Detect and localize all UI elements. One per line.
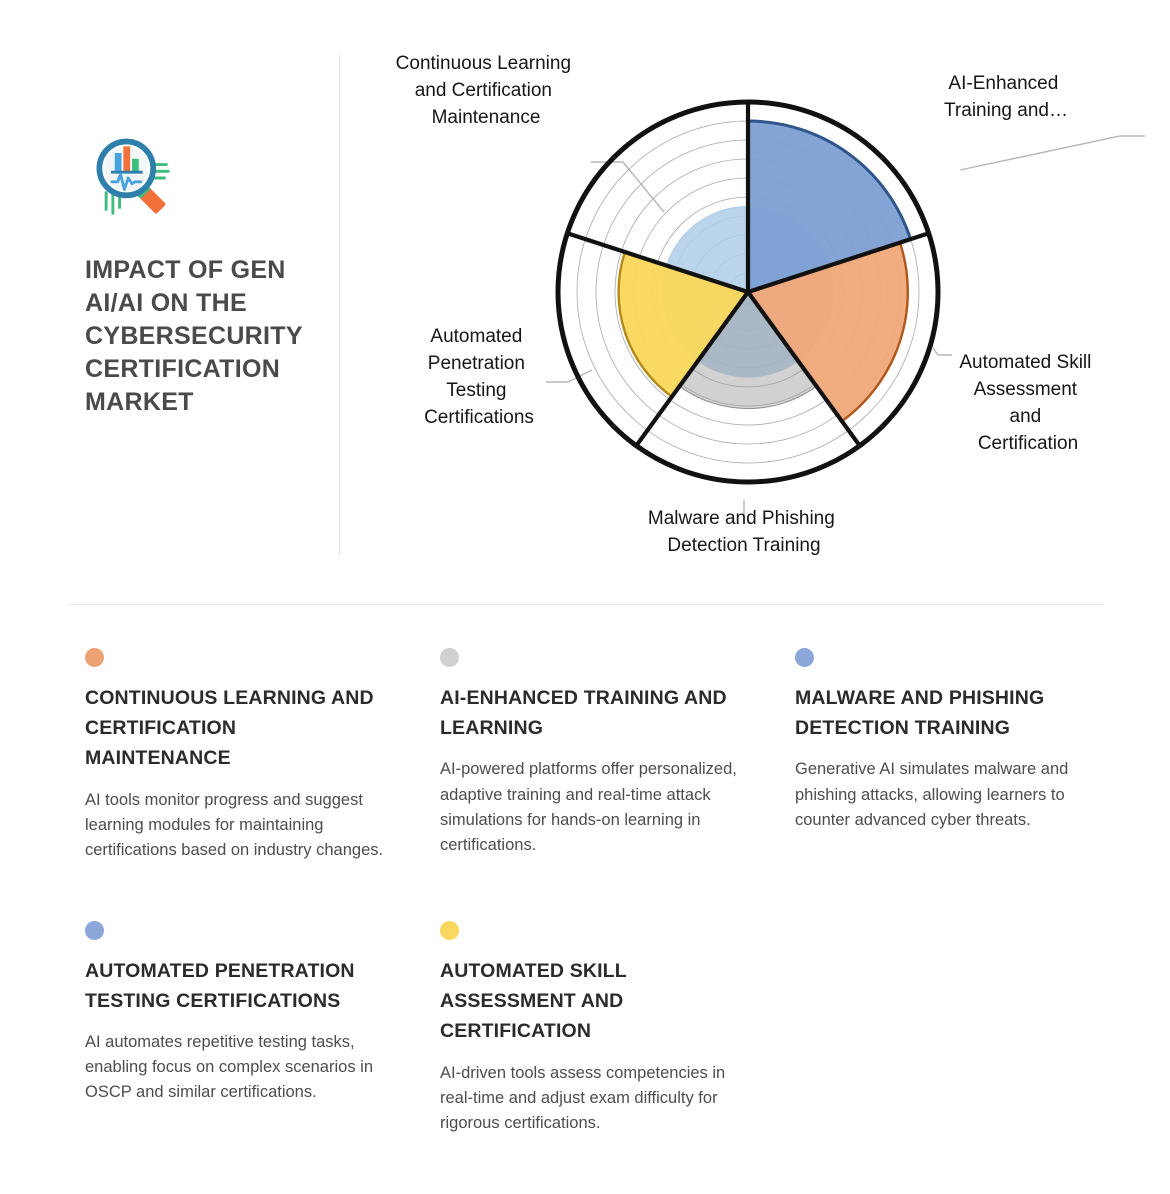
card-body: Generative AI simulates malware and phis…: [795, 757, 1095, 832]
card-malware-phishing: Malware and Phishing Detection Training …: [795, 648, 1095, 863]
page-title: Impact of Gen AI/AI on the Cybersecurity…: [85, 254, 335, 419]
card-automated-skill: Automated Skill Assessment and Certifica…: [440, 921, 740, 1136]
legend-dot-icon: [440, 921, 459, 940]
infographic-page: Impact of Gen AI/AI on the Cybersecurity…: [0, 0, 1170, 1194]
card-title: Malware and Phishing Detection Training: [795, 683, 1095, 743]
card-title: Continuous Learning and Certification Ma…: [85, 683, 385, 774]
section-divider: [68, 604, 1104, 605]
card-title: AI-Enhanced Training and Learning: [440, 683, 740, 743]
magnifier-chart-icon: [85, 130, 181, 226]
vertical-divider: [339, 55, 340, 555]
rose-chart: Continuous Learning and Certification Ma…: [360, 30, 1170, 575]
card-body: AI automates repetitive testing tasks, e…: [85, 1030, 385, 1105]
legend-dot-icon: [85, 921, 104, 940]
card-body: AI tools monitor progress and suggest le…: [85, 788, 385, 863]
label-malware-phishing: Malware and Phishing Detection Training: [648, 508, 840, 556]
label-ai-enhanced: AI-Enhanced Training and…: [944, 73, 1068, 121]
card-body: AI-driven tools assess competencies in r…: [440, 1061, 740, 1136]
label-automated-pentest: Automated Penetration Testing Certificat…: [424, 326, 534, 428]
legend-dot-icon: [795, 648, 814, 667]
title-block: Impact of Gen AI/AI on the Cybersecurity…: [85, 130, 335, 419]
card-title: Automated Penetration Testing Certificat…: [85, 956, 385, 1016]
card-automated-pentest: Automated Penetration Testing Certificat…: [85, 921, 385, 1136]
legend-dot-icon: [440, 648, 459, 667]
rose-plot: [558, 102, 938, 482]
card-continuous-learning: Continuous Learning and Certification Ma…: [85, 648, 385, 863]
card-title: Automated Skill Assessment and Certifica…: [440, 956, 740, 1047]
label-automated-skill: Automated Skill Assessment and Certifica…: [959, 352, 1096, 454]
top-section: Impact of Gen AI/AI on the Cybersecurity…: [0, 0, 1170, 600]
label-continuous-learning: Continuous Learning and Certification Ma…: [396, 53, 577, 128]
card-body: AI-powered platforms offer personalized,…: [440, 757, 740, 857]
card-ai-enhanced: AI-Enhanced Training and Learning AI-pow…: [440, 648, 740, 863]
legend-dot-icon: [85, 648, 104, 667]
detail-cards: Continuous Learning and Certification Ma…: [85, 648, 1105, 1136]
